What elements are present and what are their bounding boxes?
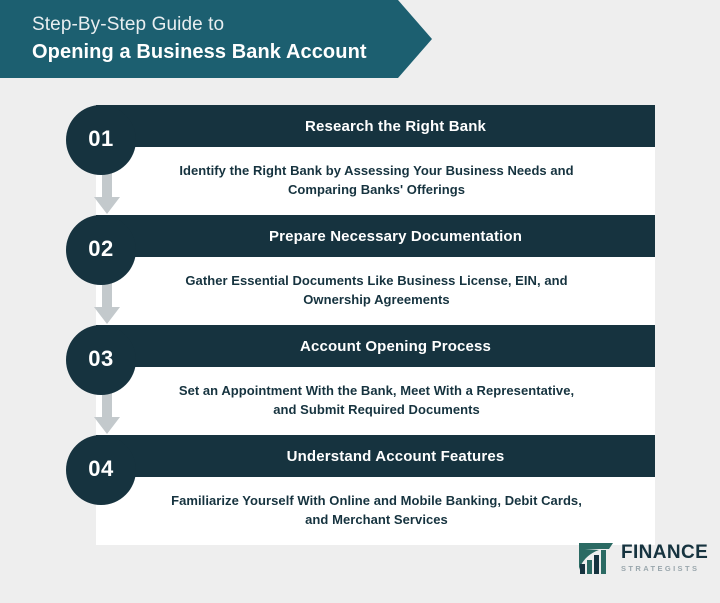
step-description-area: Set an Appointment With the Bank, Meet W… — [96, 367, 655, 435]
step-title-bar: Account Opening Process — [96, 325, 655, 367]
step-description-area: Identify the Right Bank by Assessing You… — [96, 147, 655, 215]
step-title-bar: Understand Account Features — [96, 435, 655, 477]
step-title: Prepare Necessary Documentation — [219, 228, 532, 245]
logo-name: FINANCE — [621, 543, 708, 562]
step-description-area: Gather Essential Documents Like Business… — [96, 257, 655, 325]
step-number-badge: 04 — [66, 435, 136, 505]
header-subtitle: Step-By-Step Guide to — [32, 12, 432, 38]
header-banner: Step-By-Step Guide to Opening a Business… — [0, 0, 432, 78]
step-item: 04 Understand Account Features Familiari… — [96, 435, 655, 545]
logo-subtitle: STRATEGISTS — [621, 563, 708, 574]
step-number: 02 — [88, 238, 113, 260]
logo-text-block: FINANCE STRATEGISTS — [621, 543, 708, 574]
step-item: 01 Research the Right Bank Identify the … — [96, 105, 655, 215]
step-number: 01 — [88, 128, 113, 150]
bar-chart-arrow-icon — [576, 541, 616, 575]
step-title: Research the Right Bank — [255, 118, 496, 135]
step-number-badge: 02 — [66, 215, 136, 285]
step-item: 03 Account Opening Process Set an Appoin… — [96, 325, 655, 435]
steps-panel: 01 Research the Right Bank Identify the … — [96, 105, 655, 545]
step-description: Set an Appointment With the Bank, Meet W… — [179, 383, 574, 417]
page-title: Opening a Business Bank Account — [32, 38, 432, 66]
step-title: Account Opening Process — [250, 338, 501, 355]
step-title-bar: Prepare Necessary Documentation — [96, 215, 655, 257]
step-number: 04 — [88, 458, 113, 480]
brand-logo: FINANCE STRATEGISTS — [576, 541, 708, 575]
step-description: Identify the Right Bank by Assessing You… — [179, 163, 573, 197]
step-title: Understand Account Features — [237, 448, 515, 465]
step-number-badge: 03 — [66, 325, 136, 395]
step-item: 02 Prepare Necessary Documentation Gathe… — [96, 215, 655, 325]
step-description: Familiarize Yourself With Online and Mob… — [171, 493, 582, 527]
step-number-badge: 01 — [66, 105, 136, 175]
step-description-area: Familiarize Yourself With Online and Mob… — [96, 477, 655, 545]
step-description: Gather Essential Documents Like Business… — [185, 273, 567, 307]
step-title-bar: Research the Right Bank — [96, 105, 655, 147]
step-number: 03 — [88, 348, 113, 370]
